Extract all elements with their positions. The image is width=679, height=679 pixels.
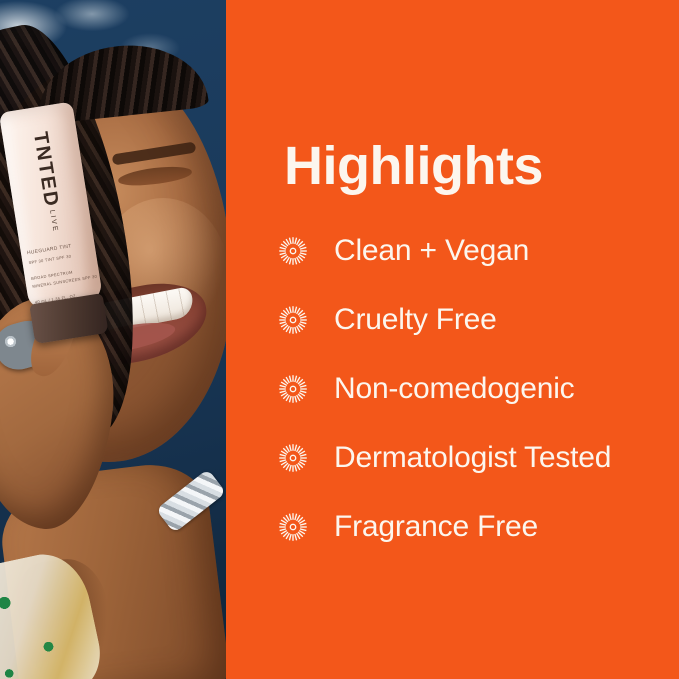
page-title: Highlights	[284, 139, 543, 193]
list-item-label: Cruelty Free	[334, 305, 497, 335]
list-item-label: Fragrance Free	[334, 512, 538, 542]
list-item: Clean + Vegan	[278, 216, 611, 285]
sunburst-icon	[278, 305, 308, 335]
list-item-label: Non-comedogenic	[334, 374, 574, 404]
list-item-label: Clean + Vegan	[334, 236, 529, 266]
sunburst-icon	[278, 236, 308, 266]
sunburst-icon	[278, 512, 308, 542]
product-highlights-banner: TNTED LIVE HUEGUARD TINT SPF 30 TINT SPF…	[0, 0, 679, 679]
list-item: Fragrance Free	[278, 492, 611, 561]
list-item: Non-comedogenic	[278, 354, 611, 423]
list-item-label: Dermatologist Tested	[334, 443, 611, 473]
model-photo: TNTED LIVE HUEGUARD TINT SPF 30 TINT SPF…	[0, 0, 226, 679]
highlights-list: Clean + Vegan	[278, 216, 611, 561]
list-item: Cruelty Free	[278, 285, 611, 354]
list-item: Dermatologist Tested	[278, 423, 611, 492]
sunburst-icon	[278, 374, 308, 404]
sunburst-icon	[278, 443, 308, 473]
highlights-panel: Highlights	[226, 0, 679, 679]
